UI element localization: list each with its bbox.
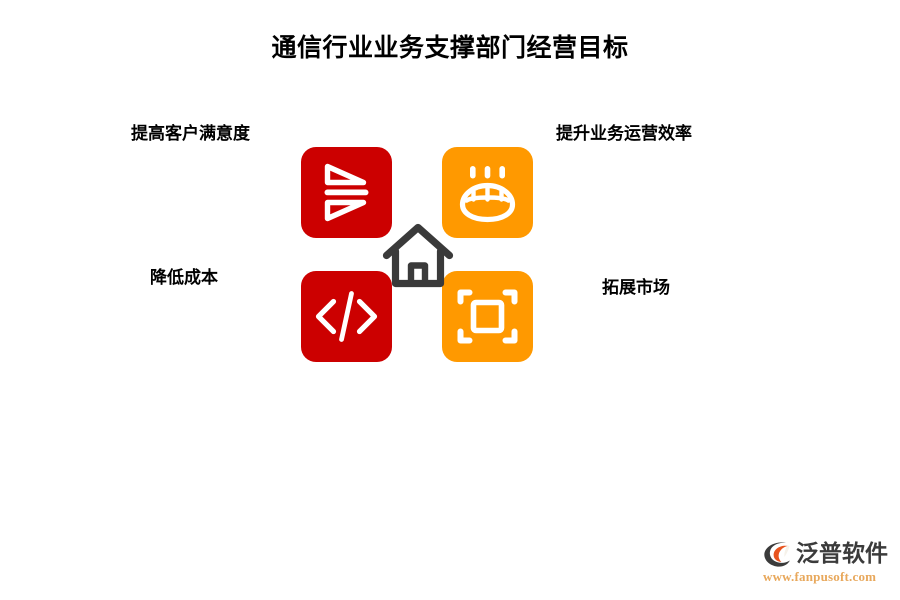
quadrant-label-bottom-left: 降低成本 [150,263,218,288]
watermark-url: www.fanpusoft.com [763,569,890,585]
slide-canvas: 通信行业业务支撑部门经营目标 提高客户满意度 提升业务运营效率 降低成本 拓展市… [0,0,900,600]
tile-top-left[interactable] [301,147,392,238]
scan-frame-icon [442,271,533,362]
quadrant-label-top-left: 提高客户满意度 [131,119,250,144]
bread-loaf-icon [442,147,533,238]
code-brackets-icon [301,271,392,362]
arrow-divider-icon [301,147,392,238]
watermark: 泛普软件 www.fanpusoft.com [762,536,890,588]
quadrant-label-top-right: 提升业务运营效率 [556,119,692,144]
quadrant-label-bottom-right: 拓展市场 [602,273,670,298]
page-title: 通信行业业务支撑部门经营目标 [0,28,900,64]
watermark-brand: 泛普软件 [796,540,888,566]
tile-bottom-left[interactable] [301,271,392,362]
tile-bottom-right[interactable] [442,271,533,362]
home-icon [382,222,454,288]
fanpu-logo-icon [762,538,793,569]
tile-top-right[interactable] [442,147,533,238]
